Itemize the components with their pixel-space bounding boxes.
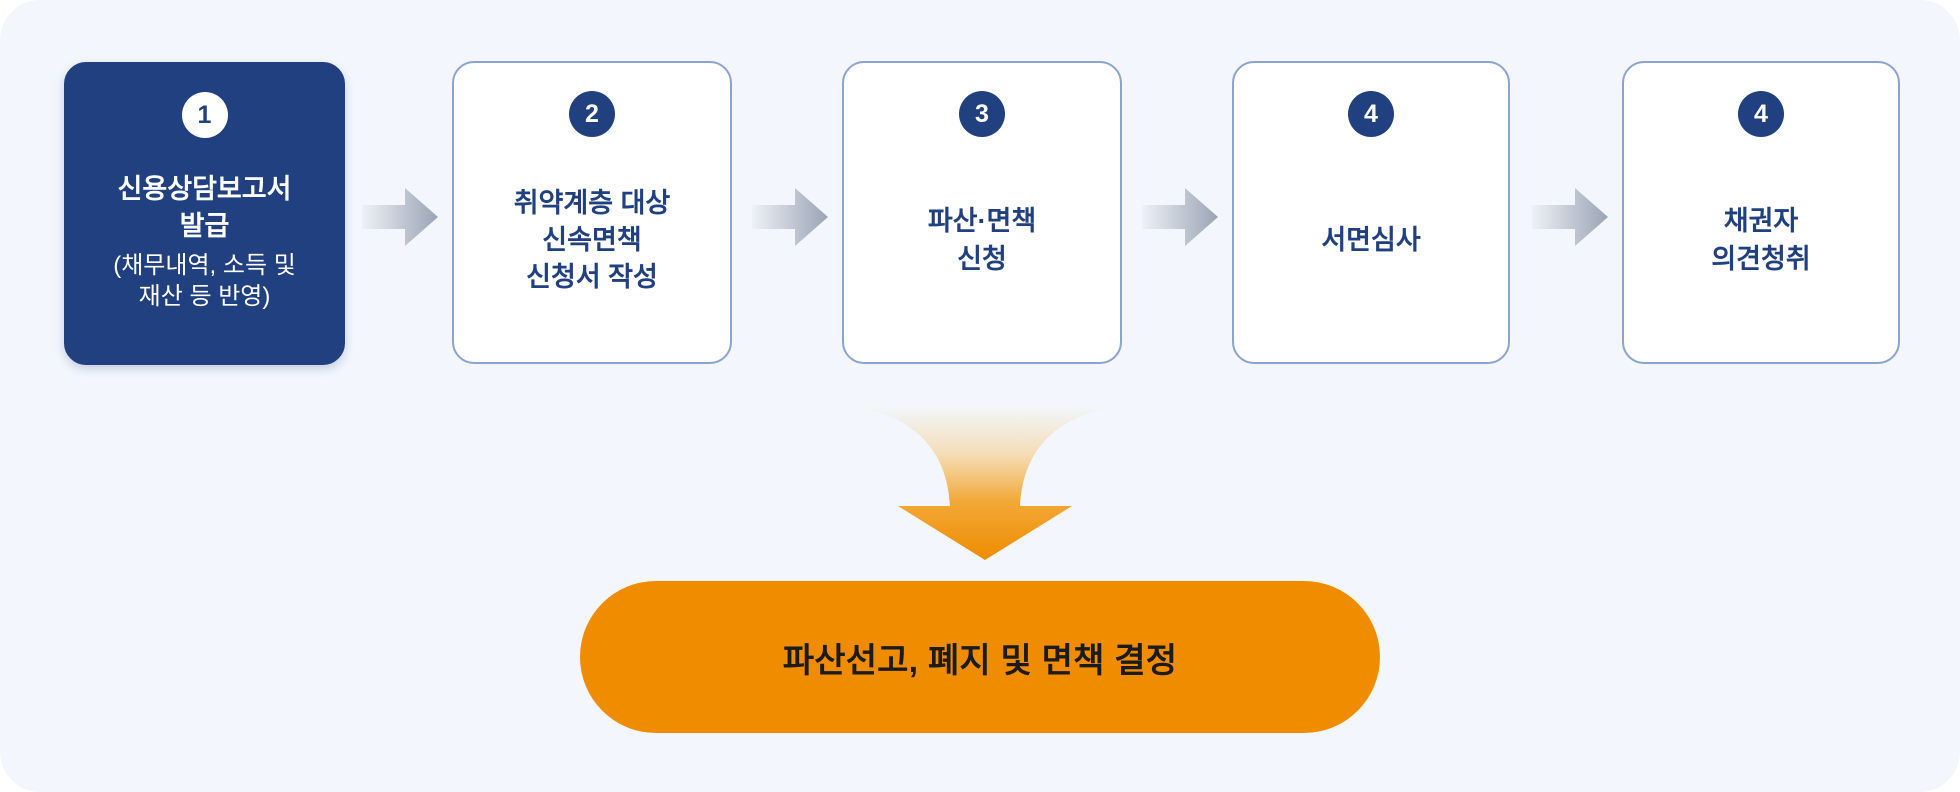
result-pill[interactable]: 파산선고, 폐지 및 면책 결정 [580, 581, 1380, 733]
arrow-right-icon [752, 188, 828, 246]
step-badge-4: 4 [1348, 91, 1394, 137]
step-title-2: 취약계층 대상 신속면책 신청서 작성 [514, 185, 671, 297]
step-body-2: 취약계층 대상 신속면책 신청서 작성 [454, 137, 730, 362]
step-badge-5: 4 [1738, 91, 1784, 137]
arrow-right-icon [362, 188, 438, 246]
step-title-4: 서면심사 [1321, 222, 1420, 259]
step-badge-2: 2 [569, 91, 615, 137]
step-body-1: 신용상담보고서 발급 (채무내역, 소득 및 재산 등 반영) [66, 138, 343, 363]
step-card-3[interactable]: 3 파산·면책 신청 [842, 61, 1122, 364]
step-note-1: (채무내역, 소득 및 재산 등 반영) [113, 250, 296, 312]
step-card-2[interactable]: 2 취약계층 대상 신속면책 신청서 작성 [452, 61, 732, 364]
step-title-1: 신용상담보고서 발급 [118, 171, 292, 246]
step-title-5: 채권자 의견청취 [1711, 203, 1810, 278]
step-card-1[interactable]: 1 신용상담보고서 발급 (채무내역, 소득 및 재산 등 반영) [64, 62, 345, 365]
step-row: 1 신용상담보고서 발급 (채무내역, 소득 및 재산 등 반영) 2 [0, 0, 1960, 400]
step-badge-1: 1 [182, 92, 228, 138]
step-card-4[interactable]: 4 서면심사 [1232, 61, 1510, 364]
step-body-5: 채권자 의견청취 [1624, 137, 1898, 362]
funnel-arrow-down-icon [843, 405, 1127, 560]
step-card-5[interactable]: 4 채권자 의견청취 [1622, 61, 1900, 364]
arrow-right-icon [1532, 188, 1608, 246]
step-body-3: 파산·면책 신청 [844, 137, 1120, 362]
arrow-right-icon [1142, 188, 1218, 246]
step-badge-3: 3 [959, 91, 1005, 137]
step-title-3: 파산·면책 신청 [928, 203, 1036, 278]
result-label: 파산선고, 폐지 및 면책 결정 [783, 633, 1178, 682]
flowchart-canvas: 1 신용상담보고서 발급 (채무내역, 소득 및 재산 등 반영) 2 [0, 0, 1960, 792]
step-body-4: 서면심사 [1234, 137, 1508, 362]
